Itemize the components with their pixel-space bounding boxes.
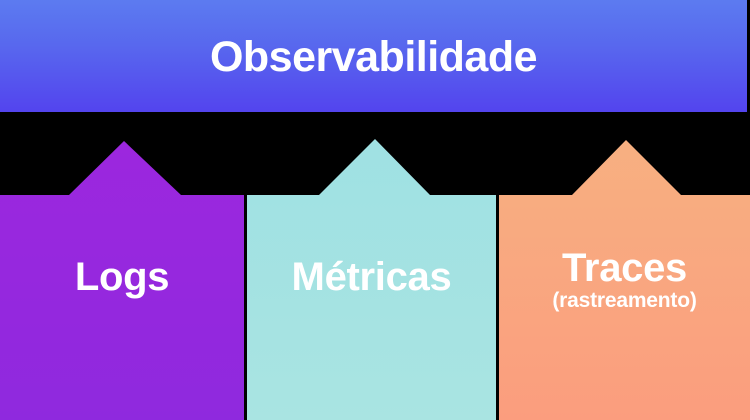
pillar-metricas[interactable]: Métricas: [247, 135, 496, 420]
pillar-metricas-labels: Métricas: [247, 257, 496, 298]
pillar-metricas-title: Métricas: [247, 257, 496, 298]
pillar-logs[interactable]: Logs: [0, 135, 244, 420]
observability-infographic: Observabilidade Logs: [0, 0, 750, 420]
pillar-traces-title: Traces: [499, 248, 750, 289]
pillar-traces-subtitle: (rastreamento): [499, 290, 750, 312]
header-banner: Observabilidade: [0, 0, 747, 112]
pillar-traces-labels: Traces (rastreamento): [499, 248, 750, 312]
pillar-logs-title: Logs: [0, 257, 244, 298]
page-title: Observabilidade: [210, 36, 537, 79]
pillar-logs-labels: Logs: [0, 257, 244, 298]
pillar-traces[interactable]: Traces (rastreamento): [499, 135, 750, 420]
